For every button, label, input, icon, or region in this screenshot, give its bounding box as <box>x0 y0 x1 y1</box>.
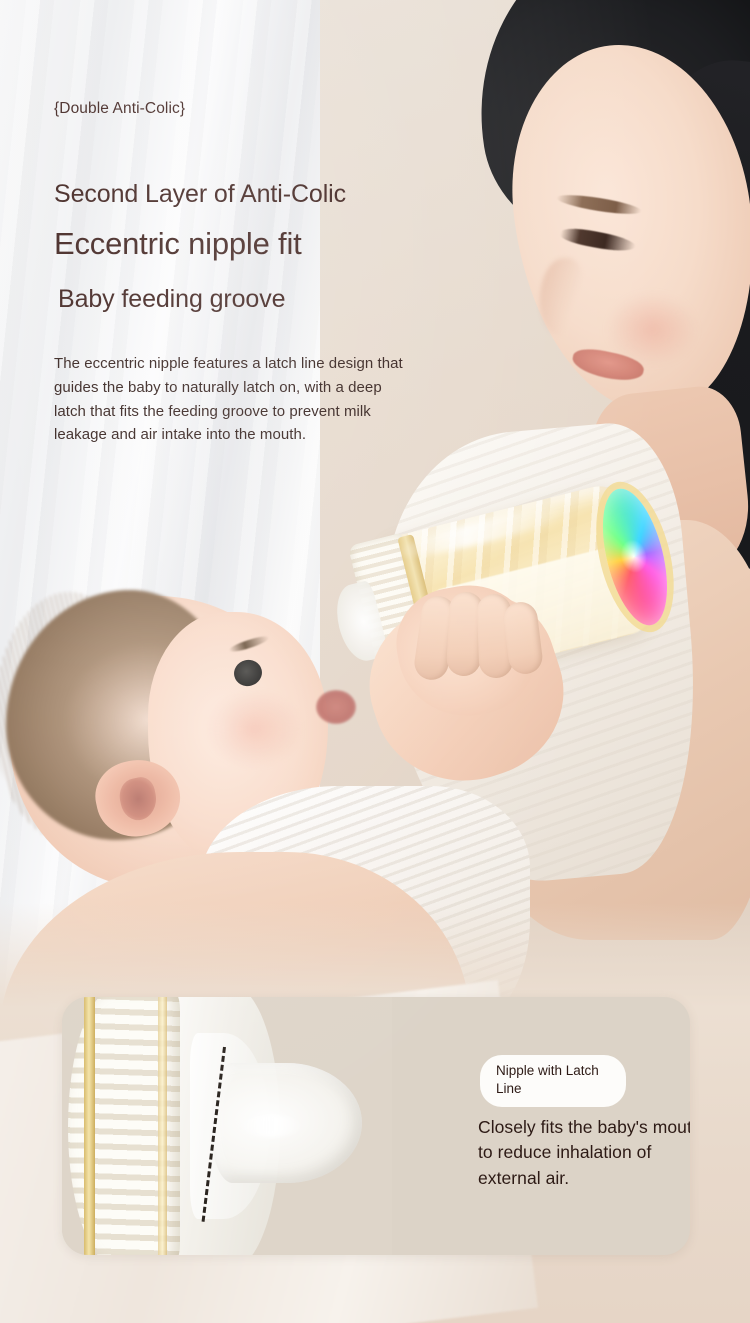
eyebrow-label: {Double Anti-Colic} <box>54 100 454 119</box>
info-card-description: Closely fits the baby's mouth to reduce … <box>478 1115 690 1191</box>
collar-gold-trim <box>84 997 95 1255</box>
headline-copy-block: {Double Anti-Colic} Second Layer of Anti… <box>54 100 454 447</box>
nipple-highlight <box>238 1115 304 1137</box>
heading-secondary: Second Layer of Anti-Colic <box>54 179 454 209</box>
nipple-photo <box>62 997 392 1255</box>
page-title: Eccentric nipple fit <box>54 225 454 263</box>
product-page: {Double Anti-Colic} Second Layer of Anti… <box>0 0 750 1323</box>
mother-nose <box>540 258 584 336</box>
status-badge: Nipple with Latch Line <box>480 1055 626 1107</box>
baby-cheek <box>206 690 302 768</box>
info-card-text: Nipple with Latch Line Closely fits the … <box>418 997 690 1255</box>
heading-tertiary: Baby feeding groove <box>58 284 454 314</box>
body-paragraph: The eccentric nipple features a latch li… <box>54 352 410 447</box>
collar-gold-trim-inner <box>158 997 167 1255</box>
baby-mouth <box>316 690 356 724</box>
info-card: Nipple with Latch Line Closely fits the … <box>62 997 690 1255</box>
